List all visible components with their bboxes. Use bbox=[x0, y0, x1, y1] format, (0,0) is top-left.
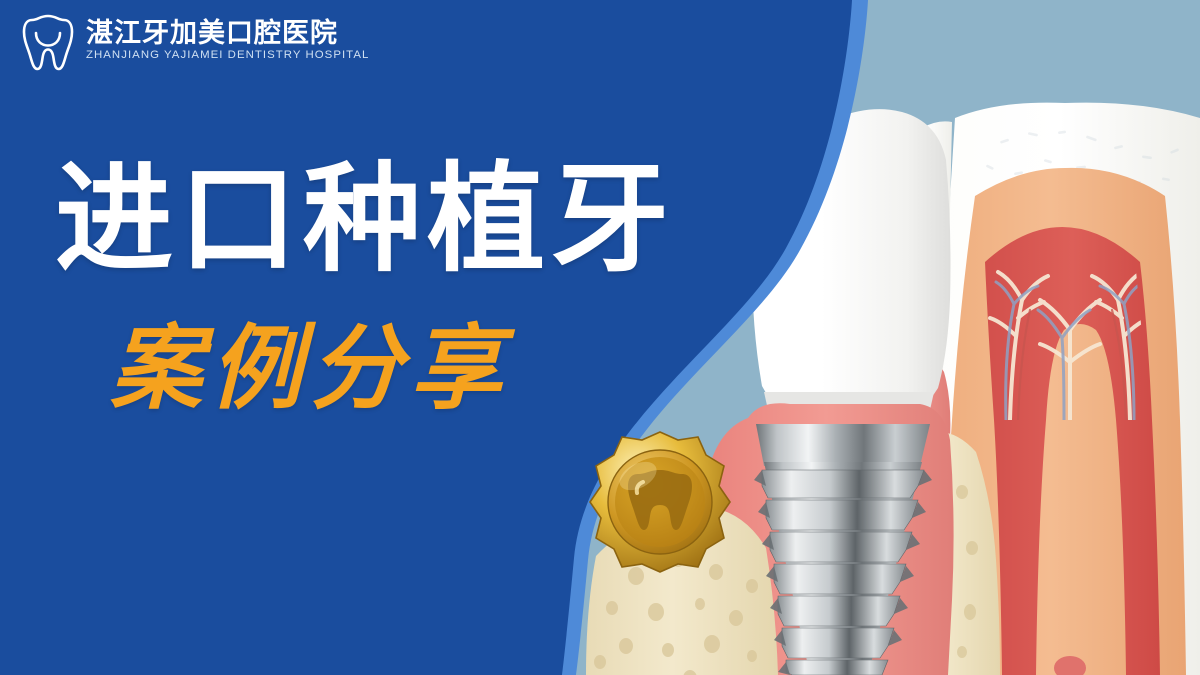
headline-subtitle: 案例分享 bbox=[110, 322, 510, 414]
tooth-smile-icon bbox=[22, 10, 74, 72]
poster-canvas: 湛江牙加美口腔医院 ZHANJIANG YAJIAMEI DENTISTRY H… bbox=[0, 0, 1200, 675]
brand-logo[interactable]: 湛江牙加美口腔医院 ZHANJIANG YAJIAMEI DENTISTRY H… bbox=[22, 10, 369, 72]
tooth-seal-badge[interactable] bbox=[586, 428, 734, 576]
brand-text: 湛江牙加美口腔医院 ZHANJIANG YAJIAMEI DENTISTRY H… bbox=[86, 20, 369, 62]
brand-name-cn: 湛江牙加美口腔医院 bbox=[86, 20, 369, 48]
headline-title: 进口种植牙 bbox=[55, 160, 675, 278]
brand-name-en: ZHANJIANG YAJIAMEI DENTISTRY HOSPITAL bbox=[86, 50, 369, 61]
